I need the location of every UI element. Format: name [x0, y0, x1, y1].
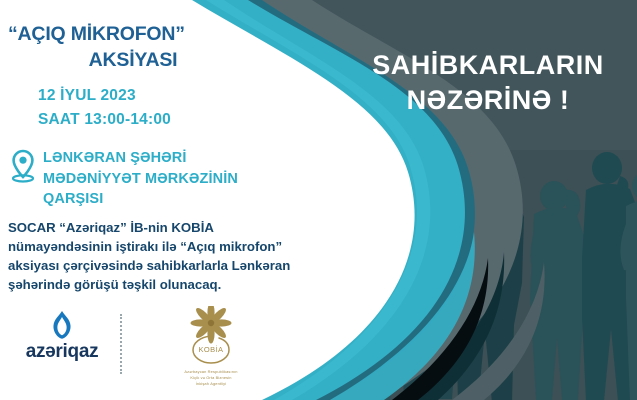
headline-line-2: NƏZƏRİNƏ ! [352, 83, 624, 118]
description-line-1: SOCAR “Azəriqaz” İB-nin KOBİA [8, 218, 308, 237]
azeriqaz-wordmark: azəriqaz [14, 342, 110, 361]
page-title: “AÇIQ MİKROFON” AKSİYASI [8, 22, 258, 74]
kobia-mark-text: KOBİA [199, 345, 224, 354]
description-line-2: nümayəndəsinin iştirakı ilə “Açıq mikrof… [8, 237, 308, 256]
headline-line-1: SAHİBKARLARIN [372, 50, 604, 80]
venue-line-3: QARŞISI [43, 189, 238, 210]
event-datetime: 12 İYUL 2023 SAAT 13:00-14:00 [38, 84, 171, 132]
kobia-flower-icon: KOBİA [178, 306, 244, 368]
event-description: SOCAR “Azəriqaz” İB-nin KOBİA nümayəndəs… [8, 218, 308, 295]
description-line-4: şəhərində görüşü təşkil olunacaq. [8, 275, 308, 294]
kobia-caption-line-3: İnkişafı Agentliyi [136, 381, 286, 387]
venue-address: LƏNKƏRAN ŞƏHƏRİ MƏDƏNİYYƏT MƏRKƏZİNİN QA… [43, 148, 238, 210]
kobia-logo: KOBİA Azərbaycan Respublikasının Kiçik v… [136, 306, 286, 387]
headline: SAHİBKARLARIN NƏZƏRİNƏ ! [352, 48, 624, 117]
logo-row: azəriqaz [8, 306, 298, 394]
title-line-2: AKSİYASI [8, 48, 258, 74]
location-pin-icon [10, 149, 36, 183]
title-line-1: “AÇIQ MİKROFON” [8, 22, 258, 48]
left-content-column: “AÇIQ MİKROFON” AKSİYASI 12 İYUL 2023 SA… [0, 0, 320, 400]
logo-divider [120, 314, 122, 374]
event-venue: LƏNKƏRAN ŞƏHƏRİ MƏDƏNİYYƏT MƏRKƏZİNİN QA… [10, 148, 290, 210]
event-time: SAAT 13:00-14:00 [38, 108, 171, 132]
azeriqaz-logo: azəriqaz [14, 310, 110, 361]
flame-icon [49, 310, 75, 340]
venue-line-2: MƏDƏNİYYƏT MƏRKƏZİNİN [43, 169, 238, 190]
event-date: 12 İYUL 2023 [38, 84, 171, 108]
description-line-3: aksiyası çərçivəsində sahibkarlarla Lənk… [8, 256, 308, 275]
venue-line-1: LƏNKƏRAN ŞƏHƏRİ [43, 148, 238, 169]
poster-root: SAHİBKARLARIN NƏZƏRİNƏ ! “AÇIQ MİKROFON”… [0, 0, 637, 400]
kobia-caption: Azərbaycan Respublikasının Kiçik və Orta… [136, 369, 286, 387]
